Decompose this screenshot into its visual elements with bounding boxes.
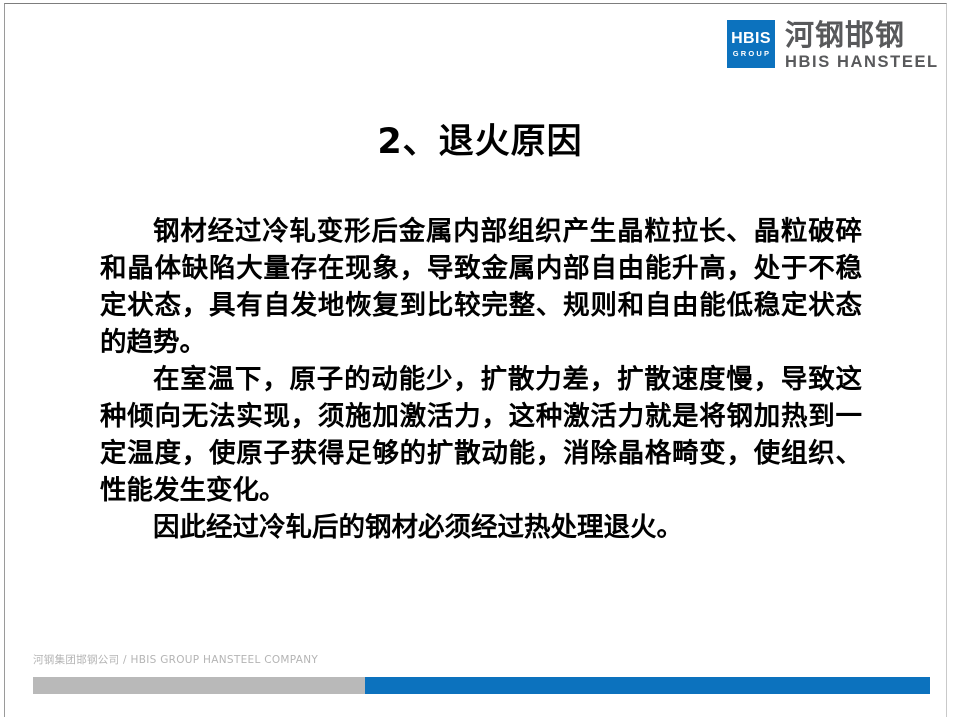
body-paragraph-3: 因此经过冷轧后的钢材必须经过热处理退火。: [100, 509, 862, 546]
slide-canvas: HBIS GROUP 河钢邯钢 HBIS HANSTEEL 2、退火原因 钢材经…: [0, 0, 960, 720]
slide-title: 2、退火原因: [0, 113, 960, 164]
logo-chinese-name: 河钢邯钢: [785, 20, 939, 51]
hbis-hansteel-logo: HBIS GROUP 河钢邯钢 HBIS HANSTEEL: [727, 20, 939, 72]
slide-body: 钢材经过冷轧变形后金属内部组织产生晶粒拉长、晶粒破碎和晶体缺陷大量存在现象，导致…: [100, 213, 862, 546]
hbis-group-logo-mark: HBIS GROUP: [727, 20, 775, 68]
footer-color-bar: [33, 677, 930, 694]
footer-bar-blue-segment: [365, 677, 930, 694]
logo-mark-main-text: HBIS: [731, 31, 771, 47]
body-paragraph-2: 在室温下，原子的动能少，扩散力差，扩散速度慢，导致这种倾向无法实现，须施加激活力…: [100, 361, 862, 509]
logo-english-name: HBIS HANSTEEL: [785, 53, 939, 72]
logo-mark-sub-text: GROUP: [733, 50, 772, 58]
footer-bar-gray-segment: [33, 677, 365, 694]
footer-credit: 河钢集团邯钢公司 / HBIS GROUP HANSTEEL COMPANY: [33, 652, 318, 667]
body-paragraph-1: 钢材经过冷轧变形后金属内部组织产生晶粒拉长、晶粒破碎和晶体缺陷大量存在现象，导致…: [100, 213, 862, 361]
logo-wordmark: 河钢邯钢 HBIS HANSTEEL: [785, 20, 939, 72]
